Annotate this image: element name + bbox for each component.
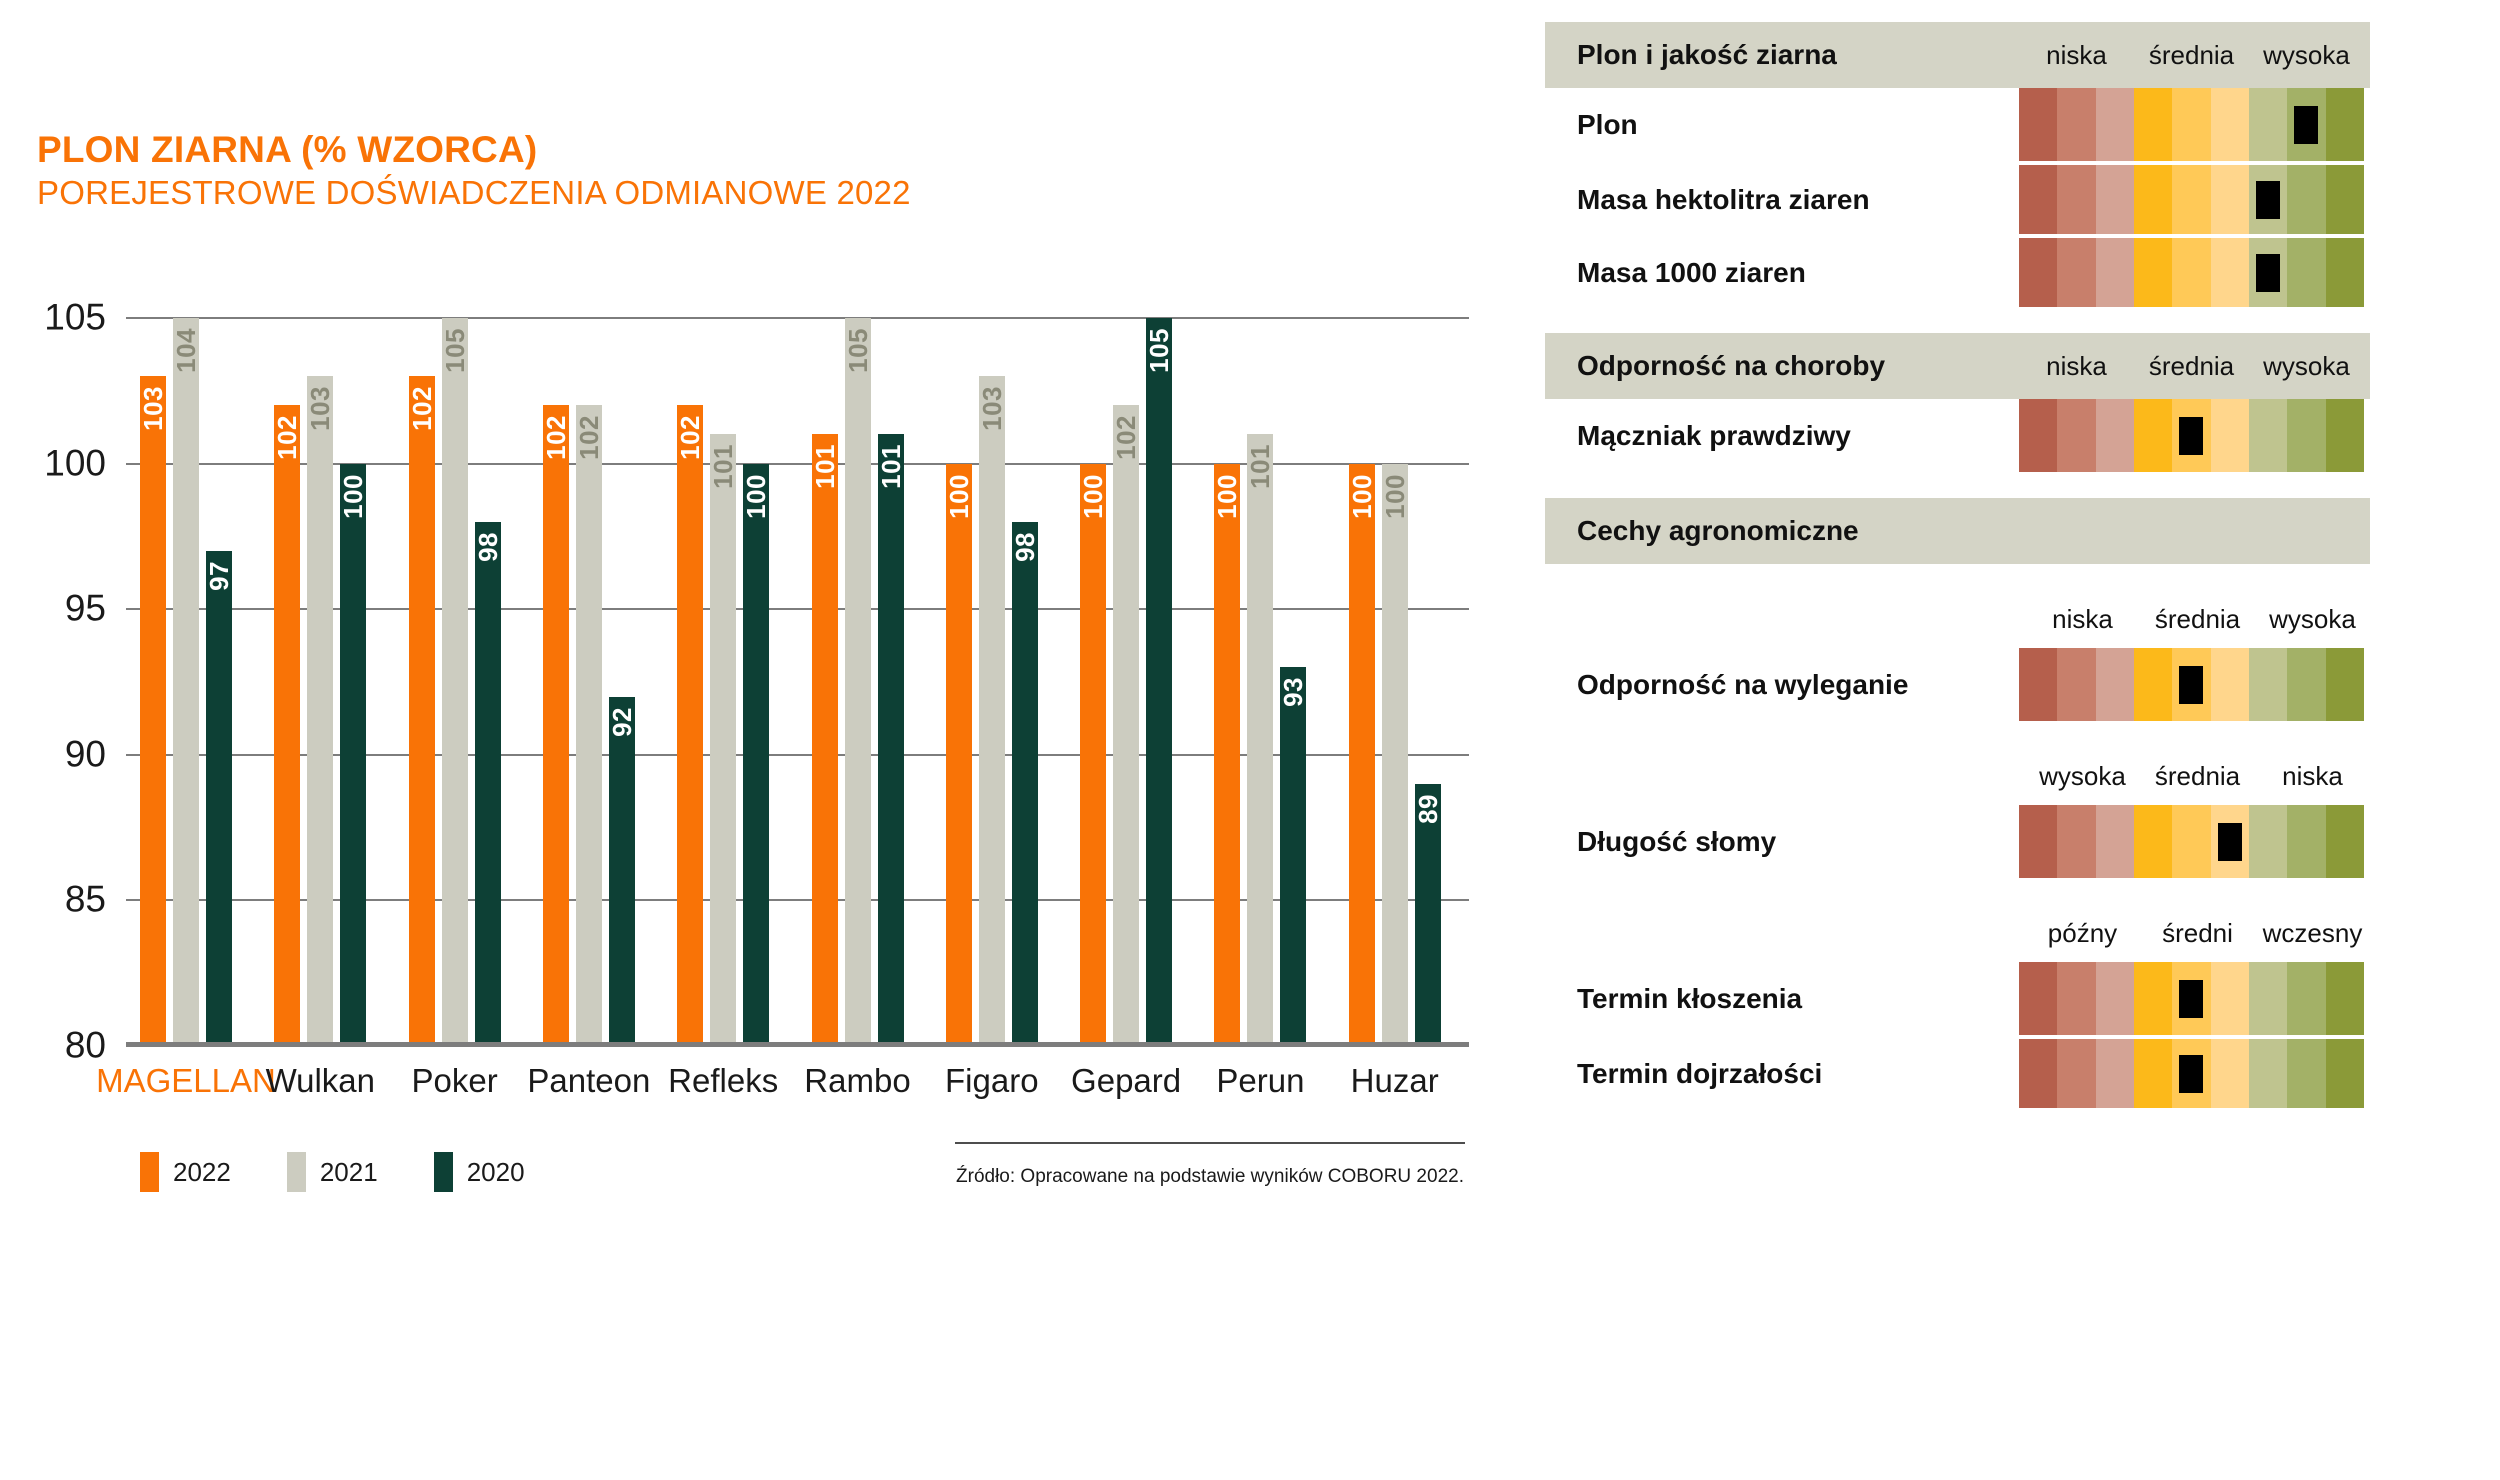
bar-2021: 100 [1382, 464, 1408, 1046]
bar-value-label: 100 [340, 474, 366, 519]
scale-segment-8 [2287, 238, 2325, 307]
bar-group: 100102105 [1080, 318, 1172, 1046]
scale-segment-3 [2096, 399, 2134, 472]
bar-2021: 103 [307, 376, 333, 1046]
bar-value-label: 105 [442, 328, 468, 373]
scale-segment-5 [2172, 1039, 2210, 1108]
rating-marker [2179, 417, 2203, 455]
scale-legend-label-2: średnia [2134, 40, 2249, 71]
trait-row: Termin dojrzałości [1545, 1035, 2370, 1108]
bar-2021: 104 [173, 318, 199, 1046]
legend-swatch [434, 1152, 453, 1192]
y-axis-tick-80: 80 [65, 1027, 106, 1064]
x-axis-label-poker: Poker [411, 1062, 497, 1100]
rating-marker [2294, 106, 2318, 144]
bar-value-label: 103 [307, 386, 333, 431]
scale-legend-label-3: wysoka [2249, 40, 2364, 71]
variety-profile-panel: Plon i jakość ziarnaniskaśredniawysokaPl… [1545, 22, 2370, 1108]
scale-segment-4 [2134, 962, 2172, 1035]
scale-segment-1 [2019, 88, 2057, 161]
scale-segment-8 [2287, 1039, 2325, 1108]
scale-segment-1 [2019, 238, 2057, 307]
bar-group: 101105101 [812, 318, 904, 1046]
bar-2022: 100 [1214, 464, 1240, 1046]
scale-segment-6 [2211, 399, 2249, 472]
scale-segment-6 [2211, 805, 2249, 878]
scale-segment-2 [2057, 238, 2095, 307]
scale-segment-2 [2057, 962, 2095, 1035]
section-title: Plon i jakość ziarna [1577, 39, 1837, 71]
bar-value-label: 100 [743, 474, 769, 519]
scale-segment-7 [2249, 88, 2287, 161]
y-axis-tick-105: 105 [44, 299, 106, 336]
legend-swatch [140, 1152, 159, 1192]
source-note-block: Źródło: Opracowane na podstawie wyników … [955, 1142, 1465, 1188]
scale-legend: niskaśredniawysoka [2025, 590, 2370, 648]
bar-2020: 89 [1415, 784, 1441, 1046]
scale-legend-row: niskaśredniawysoka [1545, 590, 2370, 648]
scale-legend: niskaśredniawysoka [2019, 333, 2364, 399]
y-axis-tick-85: 85 [65, 881, 106, 918]
bar-value-label: 98 [1012, 532, 1038, 562]
legend-item-2020: 2020 [434, 1152, 525, 1192]
trait-row: Masa 1000 ziaren [1545, 234, 2370, 307]
scale-legend-label-1: niska [2019, 351, 2134, 382]
page-subtitle: POREJESTROWE DOŚWIADCZENIA ODMIANOWE 202… [37, 174, 911, 213]
legend-item-2022: 2022 [140, 1152, 231, 1192]
y-axis-tick-95: 95 [65, 590, 106, 627]
scale-segment-3 [2096, 962, 2134, 1035]
section-title: Cechy agronomiczne [1577, 515, 1859, 547]
scale-legend-label-3: wysoka [2249, 351, 2364, 382]
scale-segment-3 [2096, 88, 2134, 161]
bar-value-label: 104 [173, 328, 199, 373]
bar-2022: 103 [140, 376, 166, 1046]
bar-2020: 101 [878, 434, 904, 1046]
section-header: Cechy agronomiczne [1545, 498, 2370, 564]
chart-title-block: PLON ZIARNA (% WZORCA) POREJESTROWE DOŚW… [37, 130, 911, 213]
scale-segment-1 [2019, 165, 2057, 234]
bar-2021: 103 [979, 376, 1005, 1046]
bar-2020: 97 [206, 551, 232, 1046]
scale-segment-9 [2326, 238, 2364, 307]
scale-segment-7 [2249, 399, 2287, 472]
scale-segment-2 [2057, 88, 2095, 161]
scale-segment-3 [2096, 648, 2134, 721]
scale-segment-2 [2057, 805, 2095, 878]
x-axis-label-huzar: Huzar [1351, 1062, 1439, 1100]
bar-value-label: 102 [274, 415, 300, 460]
legend-label: 2022 [173, 1157, 231, 1188]
scale-segment-7 [2249, 1039, 2287, 1108]
bar-value-label: 102 [677, 415, 703, 460]
scale-segment-6 [2211, 962, 2249, 1035]
scale-legend: wysokaśrednianiska [2025, 747, 2370, 805]
rating-marker [2179, 666, 2203, 704]
grain-yield-chart-panel: PLON ZIARNA (% WZORCA) POREJESTROWE DOŚW… [0, 0, 1520, 1480]
trait-row: Termin kłoszenia [1545, 962, 2370, 1035]
section-body: Mączniak prawdziwy [1545, 399, 2370, 472]
bar-2021: 102 [1113, 405, 1139, 1046]
legend-item-2021: 2021 [287, 1152, 378, 1192]
scale-legend: późnyśredniwczesny [2025, 904, 2370, 962]
scale-legend-label-3: wczesny [2255, 918, 2370, 949]
scale-segment-6 [2211, 165, 2249, 234]
x-axis-label-perun: Perun [1216, 1062, 1304, 1100]
spacer [1545, 721, 2370, 747]
scale-segment-5 [2172, 962, 2210, 1035]
trait-label: Masa hektolitra ziaren [1577, 184, 1870, 216]
section-title: Odporność na choroby [1577, 350, 1885, 382]
scale-segment-4 [2134, 399, 2172, 472]
scale-segment-8 [2287, 165, 2325, 234]
bar-group: 10010398 [946, 318, 1038, 1046]
trait-row: Masa hektolitra ziaren [1545, 161, 2370, 234]
scale-segment-2 [2057, 1039, 2095, 1108]
scale-segment-1 [2019, 648, 2057, 721]
scale-segment-2 [2057, 165, 2095, 234]
rating-scale [2019, 88, 2364, 161]
source-divider [955, 1142, 1465, 1144]
trait-label: Odporność na wyleganie [1577, 669, 1908, 701]
scale-legend-label-2: średni [2140, 918, 2255, 949]
bar-value-label: 101 [812, 444, 838, 489]
trait-label: Masa 1000 ziaren [1577, 257, 1806, 289]
bar-value-label: 92 [609, 707, 635, 737]
scale-segment-3 [2096, 165, 2134, 234]
scale-segment-6 [2211, 238, 2249, 307]
scale-legend-label-1: późny [2025, 918, 2140, 949]
scale-legend-row: wysokaśrednianiska [1545, 747, 2370, 805]
scale-segment-3 [2096, 805, 2134, 878]
scale-segment-8 [2287, 88, 2325, 161]
scale-segment-8 [2287, 962, 2325, 1035]
trait-row: Długość słomy [1545, 805, 2370, 878]
x-axis-baseline [126, 1042, 1469, 1046]
bar-group: 10310497 [140, 318, 232, 1046]
bar-value-label: 100 [1080, 474, 1106, 519]
scale-legend-label-2: średnia [2140, 604, 2255, 635]
bar-group: 102103100 [274, 318, 366, 1046]
scale-segment-6 [2211, 88, 2249, 161]
rating-scale [2019, 165, 2364, 234]
bar-group: 10210292 [543, 318, 635, 1046]
bar-value-label: 98 [475, 532, 501, 562]
x-axis-label-figaro: Figaro [945, 1062, 1039, 1100]
spacer [1545, 878, 2370, 904]
x-axis-label-wulkan: Wulkan [266, 1062, 375, 1100]
x-axis-label-refleks: Refleks [668, 1062, 778, 1100]
scale-segment-9 [2326, 88, 2364, 161]
scale-segment-5 [2172, 399, 2210, 472]
scale-segment-2 [2057, 648, 2095, 721]
section-body: Długość słomy [1545, 805, 2370, 878]
x-axis-label-magellan: MAGELLAN [96, 1062, 276, 1100]
rating-scale [2019, 238, 2364, 307]
x-axis-label-panteon: Panteon [527, 1062, 650, 1100]
bar-group: 102101100 [677, 318, 769, 1046]
scale-legend-label-3: wysoka [2255, 604, 2370, 635]
section-body: Termin kłoszeniaTermin dojrzałości [1545, 962, 2370, 1108]
scale-segment-9 [2326, 399, 2364, 472]
bar-2022: 102 [274, 405, 300, 1046]
bar-2021: 101 [1247, 434, 1273, 1046]
rating-scale [2019, 648, 2364, 721]
bar-2022: 100 [1349, 464, 1375, 1046]
trait-label: Termin kłoszenia [1577, 983, 1802, 1015]
page-title: PLON ZIARNA (% WZORCA) [37, 130, 911, 170]
y-axis-tick-100: 100 [44, 444, 106, 481]
rating-marker [2179, 1055, 2203, 1093]
trait-row: Mączniak prawdziwy [1545, 399, 2370, 472]
scale-segment-4 [2134, 648, 2172, 721]
bar-group: 10010193 [1214, 318, 1306, 1046]
scale-segment-5 [2172, 238, 2210, 307]
scale-segment-7 [2249, 648, 2287, 721]
scale-segment-4 [2134, 805, 2172, 878]
scale-segment-8 [2287, 648, 2325, 721]
scale-segment-8 [2287, 399, 2325, 472]
bar-value-label: 102 [543, 415, 569, 460]
scale-legend-label-2: średnia [2140, 761, 2255, 792]
scale-legend-row: późnyśredniwczesny [1545, 904, 2370, 962]
scale-segment-3 [2096, 1039, 2134, 1108]
bar-group: 10010089 [1349, 318, 1441, 1046]
scale-segment-1 [2019, 1039, 2057, 1108]
rating-marker [2218, 823, 2242, 861]
scale-segment-9 [2326, 1039, 2364, 1108]
scale-legend-label-1: niska [2025, 604, 2140, 635]
legend-label: 2021 [320, 1157, 378, 1188]
bar-value-label: 100 [946, 474, 972, 519]
bar-value-label: 103 [979, 386, 1005, 431]
section-body: Odporność na wyleganie [1545, 648, 2370, 721]
trait-row: Odporność na wyleganie [1545, 648, 2370, 721]
scale-segment-9 [2326, 648, 2364, 721]
scale-segment-9 [2326, 165, 2364, 234]
scale-segment-7 [2249, 238, 2287, 307]
scale-segment-5 [2172, 165, 2210, 234]
legend-swatch [287, 1152, 306, 1192]
bar-value-label: 105 [845, 328, 871, 373]
bar-2020: 93 [1280, 667, 1306, 1046]
scale-segment-4 [2134, 1039, 2172, 1108]
bar-2022: 102 [677, 405, 703, 1046]
bar-2020: 105 [1146, 318, 1172, 1046]
bar-2020: 92 [609, 697, 635, 1046]
scale-segment-8 [2287, 805, 2325, 878]
bar-value-label: 100 [1214, 474, 1240, 519]
bar-2020: 98 [1012, 522, 1038, 1046]
spacer [1545, 307, 2370, 333]
scale-segment-4 [2134, 165, 2172, 234]
scale-segment-9 [2326, 805, 2364, 878]
scale-segment-1 [2019, 962, 2057, 1035]
rating-scale [2019, 962, 2364, 1035]
bar-value-label: 103 [140, 386, 166, 431]
scale-segment-4 [2134, 238, 2172, 307]
bar-value-label: 100 [1382, 474, 1408, 519]
bar-2021: 105 [442, 318, 468, 1046]
bar-value-label: 93 [1280, 677, 1306, 707]
bar-value-label: 100 [1349, 474, 1375, 519]
bar-value-label: 102 [576, 415, 602, 460]
bar-2022: 102 [409, 376, 435, 1046]
bar-2022: 100 [1080, 464, 1106, 1046]
rating-scale [2019, 399, 2364, 472]
trait-label: Długość słomy [1577, 826, 1776, 858]
trait-label: Termin dojrzałości [1577, 1058, 1822, 1090]
bar-2021: 101 [710, 434, 736, 1046]
bar-value-label: 89 [1415, 794, 1441, 824]
legend-label: 2020 [467, 1157, 525, 1188]
scale-segment-2 [2057, 399, 2095, 472]
scale-legend-label-1: wysoka [2025, 761, 2140, 792]
bar-2022: 100 [946, 464, 972, 1046]
scale-legend-label-3: niska [2255, 761, 2370, 792]
section-header: Odporność na chorobyniskaśredniawysoka [1545, 333, 2370, 399]
scale-segment-7 [2249, 962, 2287, 1035]
scale-segment-6 [2211, 648, 2249, 721]
rating-scale [2019, 805, 2364, 878]
scale-legend: niskaśredniawysoka [2019, 22, 2364, 88]
bar-group: 10210598 [409, 318, 501, 1046]
bar-value-label: 102 [409, 386, 435, 431]
bar-value-label: 101 [710, 444, 736, 489]
bar-2022: 102 [543, 405, 569, 1046]
y-axis-tick-90: 90 [65, 735, 106, 772]
bar-value-label: 105 [1146, 328, 1172, 373]
bar-2020: 98 [475, 522, 501, 1046]
chart-legend: 202220212020 [140, 1152, 581, 1192]
spacer [1545, 472, 2370, 498]
spacer [1545, 564, 2370, 590]
scale-segment-5 [2172, 88, 2210, 161]
bar-2021: 105 [845, 318, 871, 1046]
bar-value-label: 101 [878, 444, 904, 489]
x-axis-label-rambo: Rambo [804, 1062, 910, 1100]
scale-segment-4 [2134, 88, 2172, 161]
scale-legend-label-2: średnia [2134, 351, 2249, 382]
scale-segment-6 [2211, 1039, 2249, 1108]
scale-segment-7 [2249, 165, 2287, 234]
rating-scale [2019, 1039, 2364, 1108]
scale-segment-1 [2019, 399, 2057, 472]
section-header: Plon i jakość ziarnaniskaśredniawysoka [1545, 22, 2370, 88]
trait-row: Plon [1545, 88, 2370, 161]
source-note: Źródło: Opracowane na podstawie wyników … [955, 1166, 1465, 1188]
scale-segment-5 [2172, 648, 2210, 721]
bar-2020: 100 [340, 464, 366, 1046]
trait-label: Plon [1577, 109, 1638, 141]
rating-marker [2256, 181, 2280, 219]
rating-marker [2256, 254, 2280, 292]
scale-legend-label-1: niska [2019, 40, 2134, 71]
scale-segment-7 [2249, 805, 2287, 878]
bar-2022: 101 [812, 434, 838, 1046]
plot-area: 80859095100105 1031049710210310010210598… [126, 318, 1469, 1046]
scale-segment-1 [2019, 805, 2057, 878]
bar-2020: 100 [743, 464, 769, 1046]
trait-label: Mączniak prawdziwy [1577, 420, 1851, 452]
bar-value-label: 102 [1113, 415, 1139, 460]
scale-segment-3 [2096, 238, 2134, 307]
bar-value-label: 101 [1247, 444, 1273, 489]
scale-segment-9 [2326, 962, 2364, 1035]
scale-segment-5 [2172, 805, 2210, 878]
section-body: PlonMasa hektolitra ziarenMasa 1000 ziar… [1545, 88, 2370, 307]
bar-2021: 102 [576, 405, 602, 1046]
x-axis-label-gepard: Gepard [1071, 1062, 1181, 1100]
rating-marker [2179, 980, 2203, 1018]
bar-value-label: 97 [206, 561, 232, 591]
